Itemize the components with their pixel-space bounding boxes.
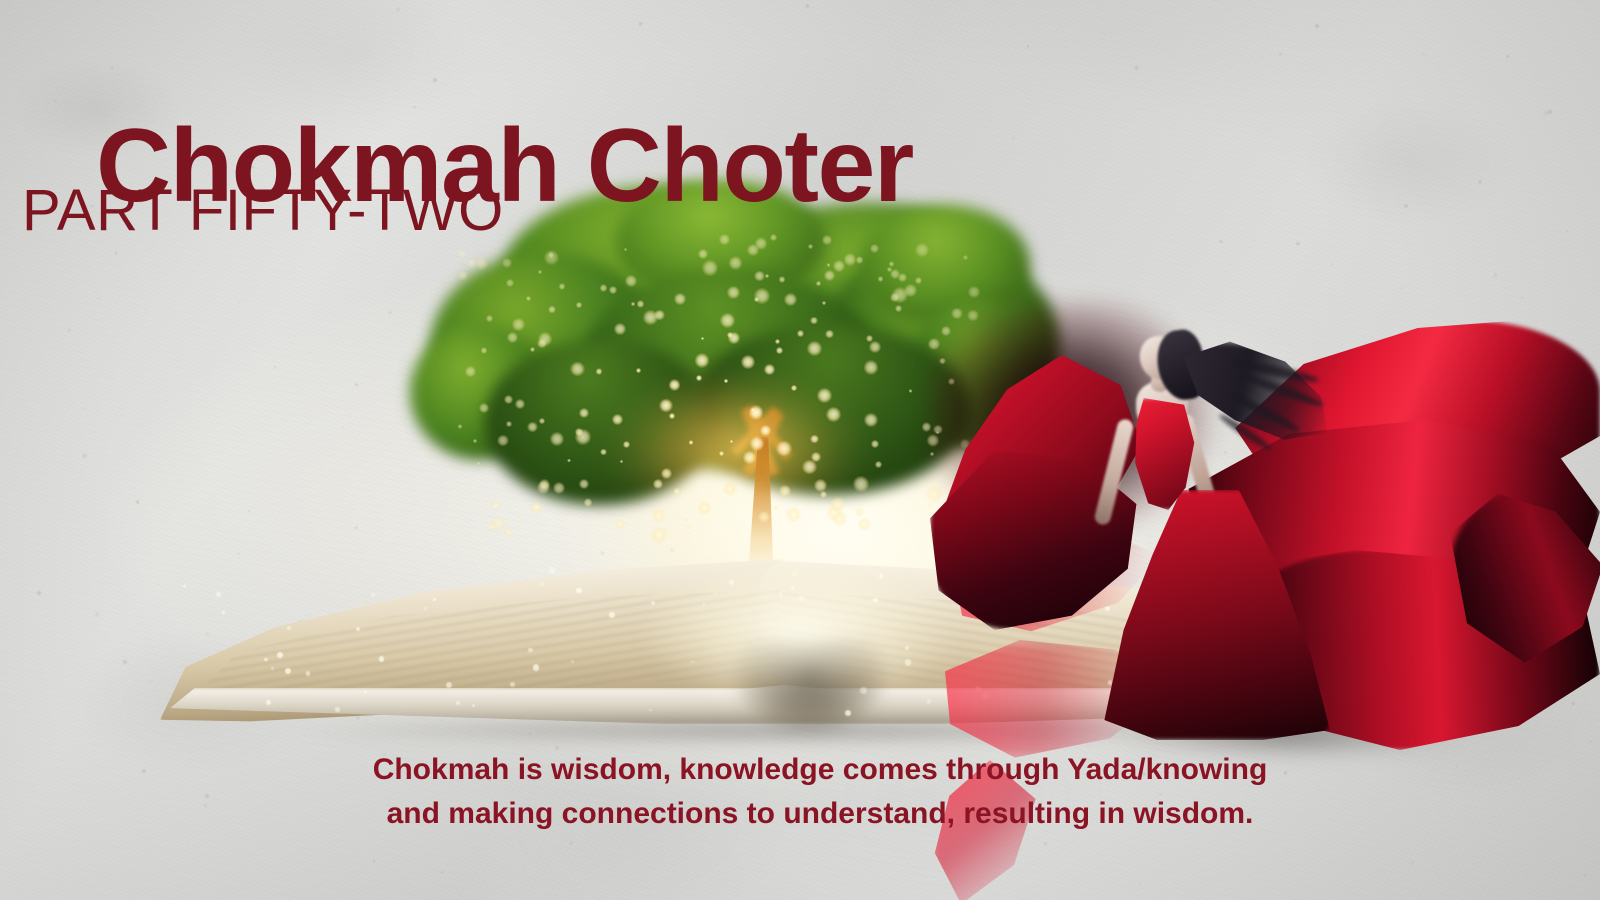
page-subtitle: PART FIFTY-TWO <box>22 182 504 240</box>
slide-canvas: Chokmah Choter PART FIFTY-TWO Chokmah is… <box>0 0 1600 900</box>
woman-in-red-dress <box>930 300 1600 770</box>
caption-line-1: Chokmah is wisdom, knowledge comes throu… <box>230 748 1410 792</box>
caption-block: Chokmah is wisdom, knowledge comes throu… <box>230 748 1410 837</box>
caption-line-2: and making connections to understand, re… <box>230 792 1410 836</box>
